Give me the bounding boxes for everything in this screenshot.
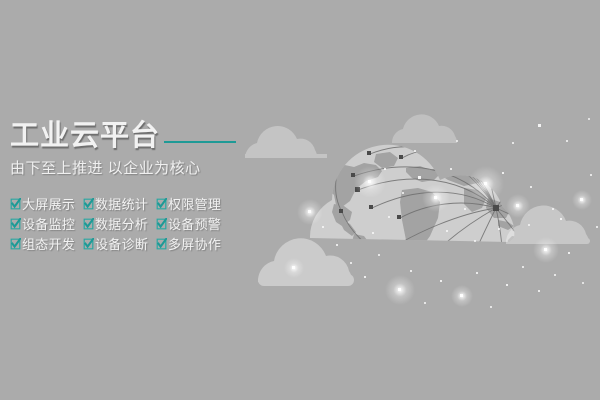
feature-label: 设备预警 [168, 217, 221, 232]
feature-item-2: 权限管理 [156, 197, 260, 212]
check-icon [156, 198, 167, 210]
check-icon [156, 218, 167, 230]
feature-label: 设备诊断 [95, 237, 148, 252]
light-particles [292, 118, 598, 308]
cloud-shape-main [310, 145, 514, 242]
check-icon [156, 238, 167, 250]
feature-label: 权限管理 [168, 197, 221, 212]
feature-item-0: 大屏展示 [10, 197, 83, 212]
feature-item-3: 设备监控 [10, 217, 83, 232]
title-row: 工业云平台 [10, 118, 260, 152]
cloud-network-globe-illustration [250, 80, 600, 330]
feature-list: 大屏展示 数据统计 权限管理 [10, 194, 260, 254]
network-node-markers [339, 147, 565, 280]
check-icon [10, 218, 21, 230]
light-particles-glow [284, 166, 592, 307]
page-subtitle: 由下至上推进 以企业为核心 [10, 159, 260, 178]
page-title: 工业云平台 [10, 120, 160, 152]
industrial-cloud-platform-banner: 工业云平台 由下至上推进 以企业为核心 大屏展示 数据统计 [0, 0, 600, 400]
check-icon [10, 198, 21, 210]
check-icon [83, 238, 94, 250]
feature-label: 大屏展示 [22, 197, 75, 212]
feature-label: 多屏协作 [168, 237, 221, 252]
cloud-shape-front-right [506, 206, 590, 244]
feature-label: 设备监控 [22, 217, 75, 232]
feature-item-1: 数据统计 [83, 197, 156, 212]
feature-item-6: 组态开发 [10, 237, 83, 252]
feature-label: 组态开发 [22, 237, 75, 252]
feature-item-5: 设备预警 [156, 217, 260, 232]
title-underline-rule [164, 141, 236, 143]
check-icon [10, 238, 21, 250]
feature-item-8: 多屏协作 [156, 237, 260, 252]
cloud-shape-back-right [392, 114, 457, 143]
feature-item-4: 数据分析 [83, 217, 156, 232]
feature-label: 数据分析 [95, 217, 148, 232]
network-arc-lines [336, 142, 564, 278]
banner-text-content: 工业云平台 由下至上推进 以企业为核心 大屏展示 数据统计 [10, 118, 260, 254]
check-icon [83, 218, 94, 230]
check-icon [83, 198, 94, 210]
feature-label: 数据统计 [95, 197, 148, 212]
cloud-shape-front-left [258, 238, 354, 286]
world-map [312, 152, 548, 286]
feature-item-7: 设备诊断 [83, 237, 156, 252]
